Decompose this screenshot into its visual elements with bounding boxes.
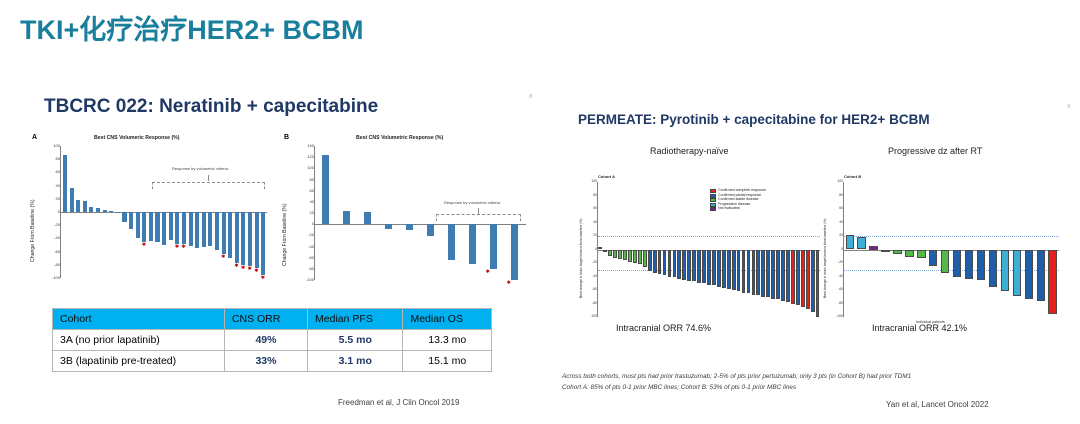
bar (747, 250, 751, 294)
bar (692, 250, 696, 282)
bar (633, 250, 637, 264)
y-tick-label: -80 (44, 263, 60, 267)
bar (881, 250, 889, 252)
bar (427, 224, 434, 236)
bar-slot (940, 182, 952, 317)
chart-b-bracket (436, 214, 521, 221)
cell-cohort-3a: 3A (no prior lapatinib) (53, 330, 225, 351)
chart-a-bracket-label: Response by volumetric criteria (172, 166, 228, 171)
response-star-marker: ✱ (241, 266, 245, 271)
bar (83, 201, 87, 212)
bar-slot (1023, 182, 1035, 317)
bar-slot (121, 146, 128, 278)
bar-slot (95, 146, 102, 278)
y-tick-label: 0 (581, 248, 597, 251)
bar-slot (82, 146, 89, 278)
chart-a-bracket-stem (208, 175, 209, 181)
y-tick-label: -40 (298, 245, 314, 249)
bar (653, 250, 657, 274)
bar (658, 250, 662, 275)
y-tick-label: 40 (44, 184, 60, 188)
right-citation: Yan et al, Lancet Oncol 2022 (886, 400, 989, 409)
cell-cns-orr-3a: 49% (224, 330, 307, 351)
bar (195, 212, 199, 248)
bar (343, 211, 350, 224)
chart-b-bars: ✱✱ (316, 146, 526, 280)
cohort-a-subtitle: Radiotherapy-naïve (650, 146, 729, 156)
y-tick-label: 60 (827, 207, 843, 210)
bar-slot (102, 146, 109, 278)
bar (857, 237, 865, 250)
bar-slot (161, 146, 168, 278)
bar-slot (62, 146, 69, 278)
bar (796, 250, 800, 305)
bar-slot (868, 182, 880, 317)
left-citation: Freedman et al, J Clin Oncol 2019 (338, 398, 459, 407)
bar (63, 155, 67, 212)
y-tick-label: 140 (298, 144, 314, 148)
bar (155, 212, 159, 242)
bar-slot: ✱ (254, 146, 261, 278)
bar-slot (115, 146, 122, 278)
bar (511, 224, 518, 280)
bar (189, 212, 193, 246)
chart-a-header: Best CNS Volumeric Response (%) (94, 135, 180, 141)
bar (1025, 250, 1033, 300)
chart-permeate-cohort-a: Radiotherapy-naïve Cohort A Best change … (580, 148, 830, 333)
bar (385, 224, 392, 228)
bar-slot (892, 182, 904, 317)
y-tick-label: -20 (298, 233, 314, 237)
bar-slot (155, 146, 162, 278)
response-star-marker: ✱ (486, 270, 490, 275)
bar (76, 200, 80, 212)
y-tick-label: -20 (44, 223, 60, 227)
y-tick-label: -40 (827, 275, 843, 278)
table-header-row: Cohort CNS ORR Median PFS Median OS (53, 309, 492, 330)
bar (702, 250, 706, 284)
bar (149, 212, 153, 241)
chart-b-y-axis-title: Change From Baseline (%) (282, 203, 288, 266)
bar-slot (999, 182, 1011, 317)
y-tick-label: 20 (581, 234, 597, 237)
bar (613, 250, 617, 258)
bar (248, 212, 252, 266)
bar (846, 235, 854, 250)
bar (322, 155, 329, 224)
y-tick-label: 60 (298, 189, 314, 193)
bar (801, 250, 805, 307)
page-title: TKI+化疗治疗HER2+ BCBM (20, 8, 364, 47)
y-tick-label: 60 (581, 207, 597, 210)
cohort-a-bars (598, 182, 820, 317)
bar-slot (400, 146, 421, 280)
bar (917, 250, 925, 259)
bar (169, 212, 173, 240)
y-tick-label: 80 (581, 194, 597, 197)
tbcrc-title: TBCRC 022: Neratinib + capecitabine (44, 96, 378, 118)
bar-slot (88, 146, 95, 278)
y-tick-label: -100 (298, 278, 314, 282)
bar (806, 250, 810, 309)
bar (697, 250, 701, 283)
bar-slot (1011, 182, 1023, 317)
bar-slot (135, 146, 142, 278)
bar (469, 224, 476, 264)
bar (638, 250, 642, 265)
right-slide-number: 9 (1067, 104, 1070, 110)
permeate-footnote-line-1: Across both cohorts, most pts had prior … (562, 372, 911, 382)
y-tick-label: -20 (581, 261, 597, 264)
chart-b-bracket-stem (478, 208, 479, 214)
panel-a-letter: A (32, 134, 37, 141)
bar (869, 246, 877, 249)
bar (70, 188, 74, 212)
y-tick-label: -60 (827, 288, 843, 291)
left-slide-number: 8 (529, 94, 532, 100)
permeate-title: PERMEATE: Pyrotinib + capecitabine for H… (578, 112, 930, 127)
bar-slot: ✱ (234, 146, 241, 278)
bar (261, 212, 265, 275)
bar (109, 211, 113, 212)
y-tick-label: 40 (827, 221, 843, 224)
bar-slot (1047, 182, 1059, 317)
bar (668, 250, 672, 277)
bar-slot (975, 182, 987, 317)
bar (776, 250, 780, 300)
bar (215, 212, 219, 250)
y-tick-label: 20 (827, 234, 843, 237)
y-tick-label: 0 (827, 248, 843, 251)
y-tick-label: -60 (44, 250, 60, 254)
bar (129, 212, 133, 229)
bar (255, 212, 259, 268)
bar-slot: ✱ (240, 146, 247, 278)
y-tick-label: -80 (581, 302, 597, 305)
bar (448, 224, 455, 260)
bar-slot: ✱ (260, 146, 267, 278)
bar-slot (379, 146, 400, 280)
bar (663, 250, 667, 276)
table-header-median-os: Median OS (403, 309, 492, 330)
bar (103, 210, 107, 212)
bar (712, 250, 716, 286)
y-tick-label: 40 (298, 200, 314, 204)
table-header-cns-orr: CNS ORR (224, 309, 307, 330)
chart-a-bracket (152, 182, 265, 189)
y-tick-label: 100 (581, 180, 597, 183)
bar-slot (963, 182, 975, 317)
chart-a-y-axis-title: Change From Baseline (%) (30, 199, 36, 262)
bar-slot (904, 182, 916, 317)
tbcrc-panel: 8 TBCRC 022: Neratinib + capecitabine A … (26, 92, 536, 422)
cohort-b-y-axis-title: Best change in brain target lesions from… (823, 218, 827, 298)
bar (732, 250, 736, 291)
bar (941, 250, 949, 274)
bar (791, 250, 795, 304)
bar (737, 250, 741, 292)
cell-cns-orr-3b: 33% (224, 351, 307, 372)
chart-b-header: Best CNS Volumetric Response (%) (356, 135, 443, 141)
chart-b-y-axis (314, 146, 315, 280)
bar (905, 250, 913, 257)
cohort-b-subtitle: Progressive dz after RT (888, 146, 982, 156)
y-tick-label: 80 (298, 178, 314, 182)
bar (742, 250, 746, 293)
bar-slot (1035, 182, 1047, 317)
bar-slot: ✱ (505, 146, 526, 280)
bar (929, 250, 937, 267)
cohort-outcomes-table: Cohort CNS ORR Median PFS Median OS 3A (… (52, 308, 492, 372)
bar-slot (316, 146, 337, 280)
bar (989, 250, 997, 287)
y-tick-label: -60 (581, 288, 597, 291)
bar (756, 250, 760, 296)
y-tick-label: 120 (298, 155, 314, 159)
bar (1037, 250, 1045, 301)
bar (208, 212, 212, 246)
y-tick-label: -20 (827, 261, 843, 264)
bar (766, 250, 770, 298)
bar (1013, 250, 1021, 297)
bar (618, 250, 622, 259)
y-tick-label: 20 (298, 211, 314, 215)
bar (202, 212, 206, 247)
response-star-marker: ✱ (254, 269, 258, 274)
bar-slot: ✱ (141, 146, 148, 278)
bar (228, 212, 232, 258)
bar (122, 212, 126, 222)
y-tick-label: 80 (44, 157, 60, 161)
bar (977, 250, 985, 280)
response-star-marker: ✱ (175, 245, 179, 250)
response-star-marker: ✱ (248, 267, 252, 272)
bar-slot: ✱ (247, 146, 254, 278)
bar (771, 250, 775, 299)
bar-slot (128, 146, 135, 278)
y-tick-label: -100 (827, 315, 843, 318)
permeate-panel: 9 PERMEATE: Pyrotinib + capecitabine for… (556, 100, 1076, 422)
bar (235, 212, 239, 263)
bar (953, 250, 961, 278)
bar-slot (880, 182, 892, 317)
response-star-marker: ✱ (507, 281, 511, 286)
y-tick-label: 100 (44, 144, 60, 148)
bar (623, 250, 627, 261)
bar-slot (916, 182, 928, 317)
panel-b-letter: B (284, 134, 289, 141)
chart-permeate-cohort-b: Progressive dz after RT Cohort B Best ch… (824, 148, 1069, 333)
bar (136, 212, 140, 238)
cohort-a-label: Cohort A (598, 174, 615, 179)
response-star-marker: ✱ (261, 276, 265, 281)
y-tick-label: 60 (44, 170, 60, 174)
bar (490, 224, 497, 269)
y-tick-label: 0 (298, 222, 314, 226)
chart-a-bars: ✱✱✱✱✱✱✱✱✱ (62, 146, 267, 278)
bar-slot (75, 146, 82, 278)
bar (116, 212, 120, 213)
bar (781, 250, 785, 301)
table-row: 3A (no prior lapatinib) 49% 5.5 mo 13.3 … (53, 330, 492, 351)
chart-tbcrc-panel-a: A Best CNS Volumeric Response (%) Change… (32, 134, 272, 294)
response-star-marker: ✱ (234, 264, 238, 269)
cell-os-3b: 15.1 mo (403, 351, 492, 372)
response-star-marker: ✱ (181, 245, 185, 250)
cell-pfs-3a: 5.5 mo (308, 330, 403, 351)
bar (241, 212, 245, 265)
bar (752, 250, 756, 295)
chart-b-bracket-label: Response by volumetric criteria (444, 200, 500, 205)
bar (816, 250, 820, 318)
bar (603, 250, 607, 252)
table-row: 3B (lapatinib pre-treated) 33% 3.1 mo 15… (53, 351, 492, 372)
bar (182, 212, 186, 244)
cohort-b-bars (844, 182, 1059, 317)
cohort-a-orr: Intracranial ORR 74.6% (616, 323, 711, 333)
y-tick-label: -100 (44, 276, 60, 280)
bar-slot (358, 146, 379, 280)
bar (89, 207, 93, 212)
bar-slot (227, 146, 234, 278)
bar (761, 250, 765, 297)
response-star-marker: ✱ (221, 255, 225, 260)
bar-slot (148, 146, 155, 278)
bar-slot (463, 146, 484, 280)
bar (811, 250, 815, 312)
y-tick-label: -40 (44, 236, 60, 240)
y-tick-label: -40 (581, 275, 597, 278)
cohort-b-label: Cohort B (844, 174, 861, 179)
table-header-median-pfs: Median PFS (308, 309, 403, 330)
cohort-b-orr: Intracranial ORR 42.1% (872, 323, 967, 333)
y-tick-label: -80 (298, 267, 314, 271)
bar (142, 212, 146, 242)
bar (682, 250, 686, 280)
bar-slot (815, 182, 820, 317)
bar (628, 250, 632, 262)
bar-slot (108, 146, 115, 278)
y-tick-label: -100 (581, 315, 597, 318)
bar (727, 250, 731, 289)
y-tick-label: 20 (44, 197, 60, 201)
bar (175, 212, 179, 244)
cell-cohort-3b: 3B (lapatinib pre-treated) (53, 351, 225, 372)
cell-os-3a: 13.3 mo (403, 330, 492, 351)
bar (1048, 250, 1056, 314)
bar (598, 247, 602, 249)
bar-slot (856, 182, 868, 317)
bar-slot (844, 182, 856, 317)
bar (677, 250, 681, 279)
response-star-marker: ✱ (142, 243, 146, 248)
bar (643, 250, 647, 268)
bar-slot (928, 182, 940, 317)
bar (786, 250, 790, 303)
cohort-a-y-axis-title: Best change in brain target lesions from… (579, 218, 583, 298)
bar (222, 212, 226, 254)
y-tick-label: 40 (581, 221, 597, 224)
bar (608, 250, 612, 257)
bar-slot (69, 146, 76, 278)
bar-slot (987, 182, 999, 317)
bar (162, 212, 166, 245)
bar-slot (337, 146, 358, 280)
bar (687, 250, 691, 281)
bar-slot (951, 182, 963, 317)
bar-slot: ✱ (484, 146, 505, 280)
bar (1001, 250, 1009, 292)
chart-tbcrc-panel-b: B Best CNS Volumetric Response (%) Chang… (284, 134, 534, 294)
bar (965, 250, 973, 279)
y-tick-label: -80 (827, 302, 843, 305)
permeate-footnote-line-2: Cohort A: 85% of pts 0-1 prior MBC lines… (562, 383, 796, 393)
bar (722, 250, 726, 288)
bar (96, 208, 100, 212)
cell-pfs-3b: 3.1 mo (308, 351, 403, 372)
bar (673, 250, 677, 278)
bar (406, 224, 413, 230)
bar (717, 250, 721, 287)
table-header-cohort: Cohort (53, 309, 225, 330)
bar (364, 212, 371, 224)
y-tick-label: 80 (827, 194, 843, 197)
y-tick-label: 100 (827, 180, 843, 183)
bar-slot (421, 146, 442, 280)
y-tick-label: 0 (44, 210, 60, 214)
bar (707, 250, 711, 285)
y-tick-label: 100 (298, 166, 314, 170)
bar-slot (442, 146, 463, 280)
bar (648, 250, 652, 272)
y-tick-label: -60 (298, 256, 314, 260)
bar (893, 250, 901, 255)
